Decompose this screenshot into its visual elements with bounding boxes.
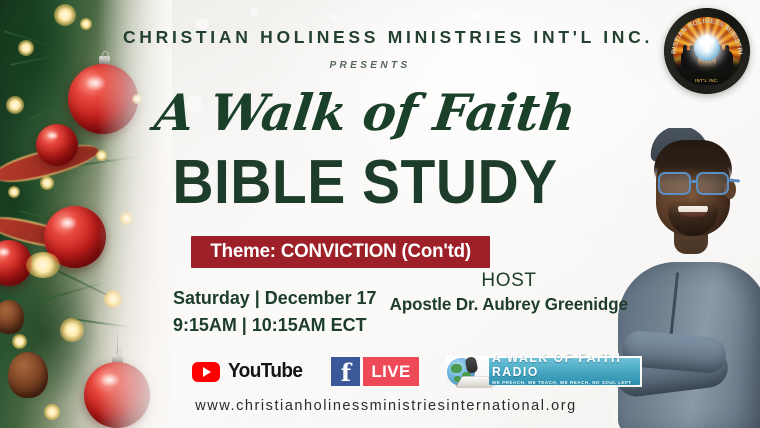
host-smile: [678, 206, 708, 217]
facebook-f-glyph: f: [341, 361, 351, 385]
theme-text: Theme: CONVICTION (Con'td): [210, 240, 470, 263]
schedule-date: Saturday | December 17: [173, 285, 377, 312]
youtube-label: YouTube: [228, 360, 302, 383]
tree-light: [26, 252, 60, 278]
glasses-lens-right: [696, 172, 729, 195]
bokeh-dot: [470, 10, 481, 21]
radio-title: A WALK OF FAITH RADIO: [492, 352, 636, 378]
emblem-ring-label: CHRISTIAN HOLINESS MINISTRIES: [664, 8, 743, 55]
glasses-temple: [728, 178, 740, 182]
bokeh-dot: [330, 14, 337, 21]
tree-light: [60, 318, 84, 342]
youtube-badge[interactable]: YouTube: [192, 360, 304, 383]
christmas-tree-decoration: [0, 0, 172, 428]
play-triangle-icon: [203, 367, 211, 377]
presents-label: PRESENTS: [160, 60, 580, 71]
event-script-title: A Walk of Faith: [147, 88, 583, 138]
tree-light: [12, 334, 27, 349]
social-badges-row: YouTube f LIVE A WALK OF FAITH RADIO WE …: [192, 356, 642, 387]
tree-light: [18, 40, 34, 56]
pinecone: [0, 300, 24, 334]
host-block: HOST Apostle Dr. Aubrey Greenidge: [386, 268, 632, 316]
eyeglasses: [654, 172, 734, 196]
tree-light: [54, 4, 76, 26]
tree-light: [6, 96, 24, 114]
schedule-time: 9:15AM | 10:15AM ECT: [173, 312, 377, 339]
organization-title: CHRISTIAN HOLINESS MINISTRIES INT'L INC.: [112, 27, 664, 48]
radio-text-panel: A WALK OF FAITH RADIO WE PREACH, WE TEAC…: [489, 358, 640, 385]
facebook-live-badge[interactable]: f LIVE: [331, 357, 418, 386]
svg-text:CHRISTIAN HOLINESS MINISTRIES: CHRISTIAN HOLINESS MINISTRIES: [664, 8, 743, 55]
bokeh-dot: [620, 88, 634, 102]
glasses-lens-left: [658, 172, 691, 195]
pinecone: [8, 352, 48, 398]
tree-light: [44, 404, 60, 420]
theme-banner: Theme: CONVICTION (Con'td): [191, 236, 490, 268]
flyer-canvas: CHRISTIAN HOLINESS MINISTRIES INT'L INC.…: [0, 0, 760, 428]
host-label: HOST: [386, 268, 632, 293]
tree-light: [40, 176, 54, 190]
host-name: Apostle Dr. Aubrey Greenidge: [390, 293, 628, 316]
radio-tagline: WE PREACH, WE TEACH, WE REACH, NO SOUL L…: [492, 380, 637, 391]
tree-light: [80, 18, 92, 30]
facebook-icon: f: [331, 357, 360, 386]
facebook-live-label: LIVE: [363, 357, 418, 386]
globe-continent: [451, 364, 462, 373]
event-main-title: BIBLE STUDY: [167, 152, 563, 214]
tree-light: [8, 186, 20, 198]
open-bible-icon: [456, 376, 493, 386]
ministry-logo: CHRISTIAN HOLINESS MINISTRIES INT'L INC.: [664, 8, 750, 94]
schedule-block: Saturday | December 17 9:15AM | 10:15AM …: [173, 285, 377, 338]
emblem-bottom-label: INT'L INC.: [664, 78, 750, 83]
bokeh-dot: [250, 8, 259, 17]
youtube-play-icon: [192, 362, 220, 382]
website-url[interactable]: www.christianholinessministriesinternati…: [116, 398, 656, 414]
radio-station-badge[interactable]: A WALK OF FAITH RADIO WE PREACH, WE TEAC…: [446, 356, 642, 387]
bokeh-dot: [430, 330, 439, 339]
christmas-ornament: [36, 124, 78, 166]
glasses-bridge: [691, 180, 698, 183]
